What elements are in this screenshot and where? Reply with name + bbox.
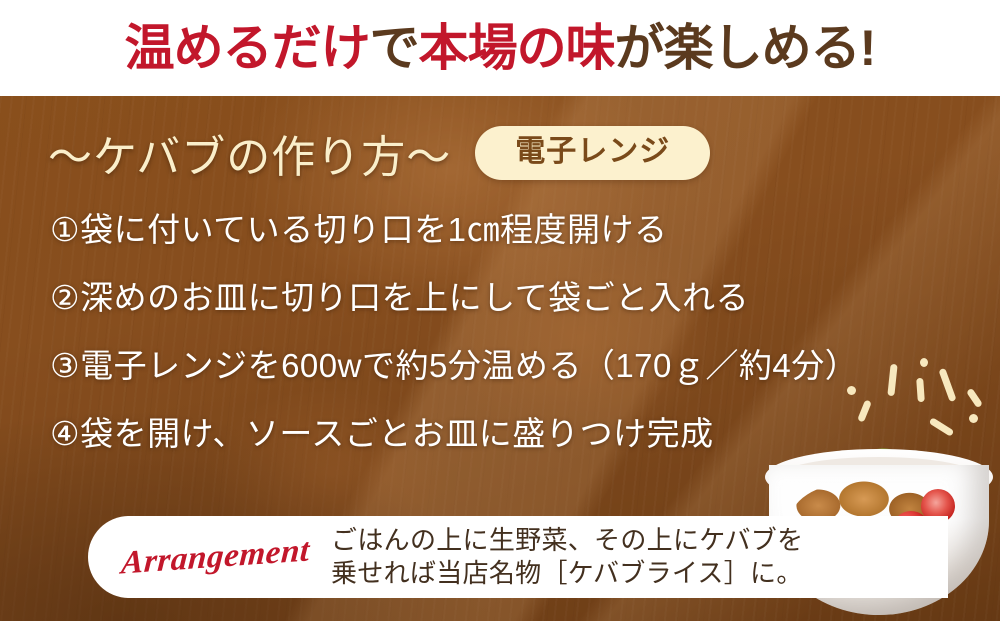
headline-segment-brown-2: が楽しめる! [615,20,876,76]
headline-band: 温めるだけで本場の味が楽しめる! [0,0,1000,96]
microwave-badge: 電子レンジ [475,126,710,180]
step-item-2: ②深めのお皿に切り口を上にして袋ごと入れる [50,281,960,314]
headline-segment-red-1: 温めるだけ [125,20,370,76]
arrangement-text: ごはんの上に生野菜、その上にケバブを 乗せれば当店名物［ケバブライス］に。 [331,524,803,590]
step-item-1: ①袋に付いている切り口を1㎝程度開ける [50,213,960,246]
arrangement-text-line-1: ごはんの上に生野菜、その上にケバブを [331,524,803,557]
arrangement-callout: Arrangement ごはんの上に生野菜、その上にケバブを 乗せれば当店名物［… [88,516,948,598]
headline: 温めるだけで本場の味が楽しめる! [125,23,876,73]
section-title-row: 〜ケバブの作り方〜 電子レンジ [48,118,1000,188]
arrangement-text-line-2: 乗せれば当店名物［ケバブライス］に。 [331,557,803,590]
step-item-3: ③電子レンジを600wで約5分温める（170ｇ／約4分） [50,349,960,382]
section-title: 〜ケバブの作り方〜 [48,121,451,185]
headline-segment-red-2: 本場の味 [419,20,615,76]
kebab-instruction-banner: 温めるだけで本場の味が楽しめる! 〜ケバブの作り方〜 電子レンジ ①袋に付いてい… [0,0,1000,621]
arrangement-label: Arrangement [120,532,311,582]
headline-segment-brown-1: で [370,20,419,76]
